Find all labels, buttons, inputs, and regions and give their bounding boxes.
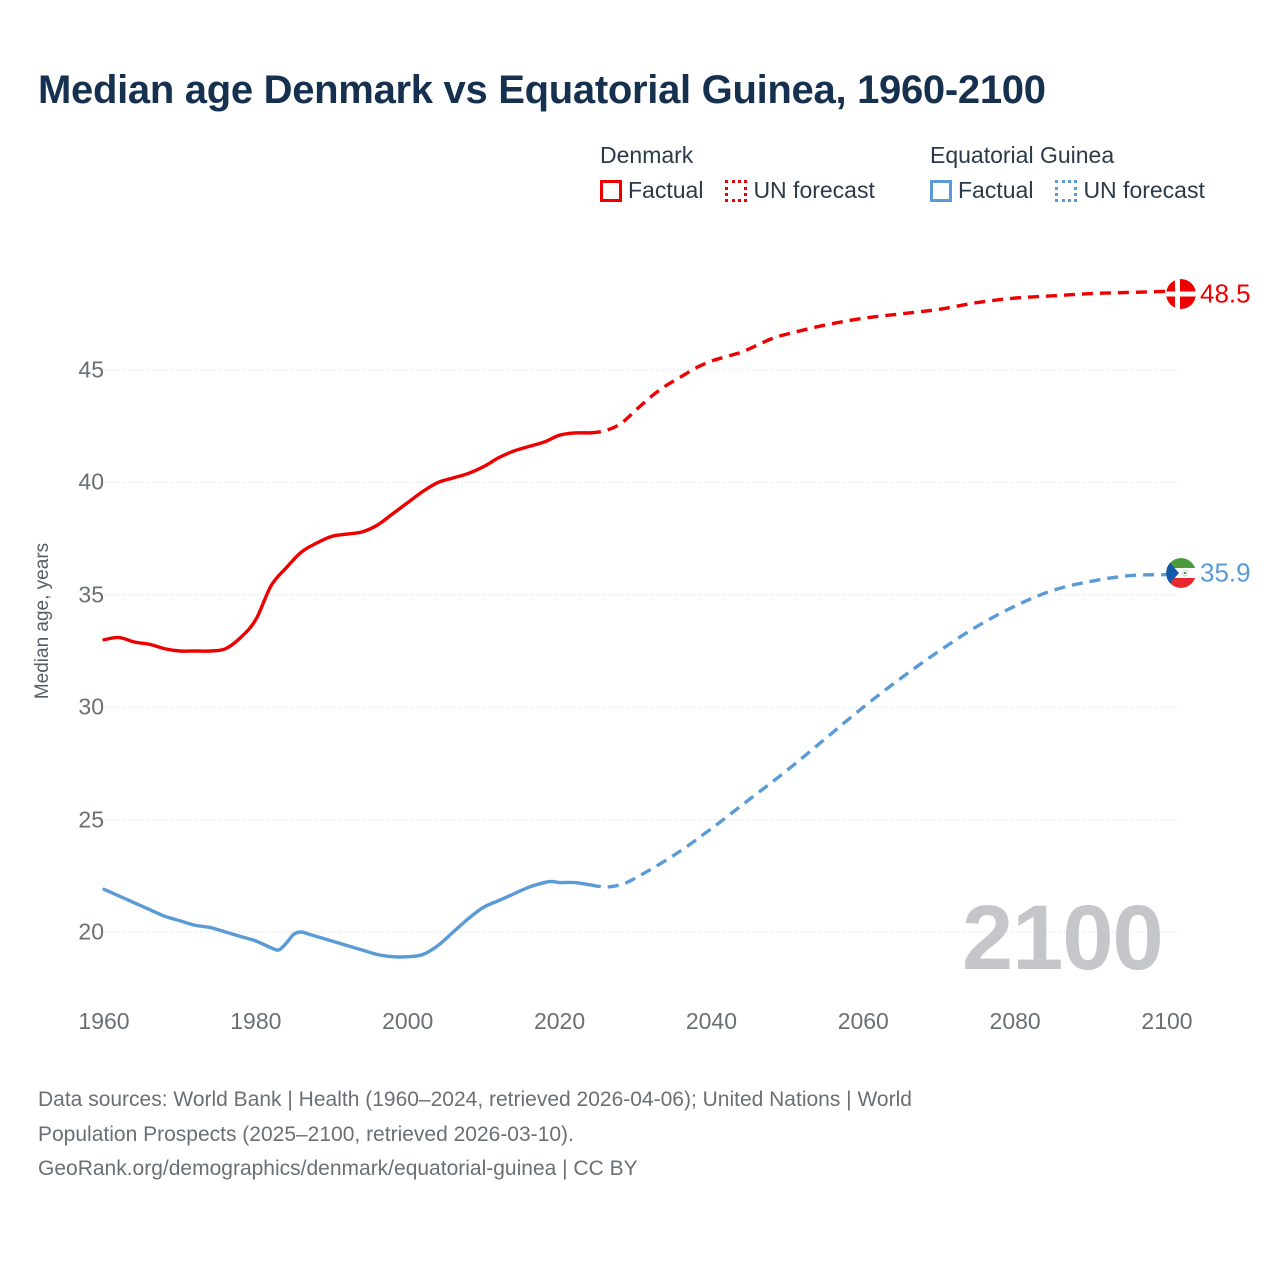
x-axis-tick-2040: 2040 (651, 1008, 771, 1035)
y-axis-tick-25: 25 (58, 806, 104, 833)
footer-line-2: Population Prospects (2025–2100, retriev… (38, 1119, 1188, 1152)
end-label-denmark-value: 48.5 (1200, 279, 1251, 309)
footer-line-3[interactable]: GeoRank.org/demographics/denmark/equator… (38, 1153, 1188, 1186)
x-axis-tick-1980: 1980 (196, 1008, 316, 1035)
y-axis-tick-20: 20 (58, 919, 104, 946)
footer-sources: Data sources: World Bank | Health (1960–… (38, 1084, 1188, 1188)
y-axis-tick-45: 45 (58, 357, 104, 384)
x-axis-tick-2020: 2020 (500, 1008, 620, 1035)
series-line-forecast-0 (590, 291, 1167, 433)
series-line-factual-1 (104, 881, 590, 957)
x-axis-tick-2000: 2000 (348, 1008, 468, 1035)
end-label-denmark: 48.5 (1166, 277, 1251, 310)
x-axis-tick-2060: 2060 (803, 1008, 923, 1035)
end-label-equatorial-guinea: 35.9 (1166, 556, 1251, 589)
x-axis-tick-2080: 2080 (955, 1008, 1075, 1035)
y-axis-tick-30: 30 (58, 694, 104, 721)
denmark-flag-icon (1166, 279, 1196, 309)
footer-line-1: Data sources: World Bank | Health (1960–… (38, 1084, 1188, 1117)
chart-page: Median age Denmark vs Equatorial Guinea,… (0, 0, 1280, 1280)
equatorial-guinea-flag-icon (1166, 558, 1196, 588)
y-axis-tick-40: 40 (58, 469, 104, 496)
x-axis-tick-2100: 2100 (1107, 1008, 1227, 1035)
end-label-equatorial-guinea-value: 35.9 (1200, 558, 1251, 588)
series-line-factual-0 (104, 433, 590, 651)
watermark-year: 2100 (962, 892, 1163, 984)
series-line-forecast-1 (590, 575, 1167, 887)
x-axis-tick-1960: 1960 (44, 1008, 164, 1035)
y-axis-tick-35: 35 (58, 581, 104, 608)
